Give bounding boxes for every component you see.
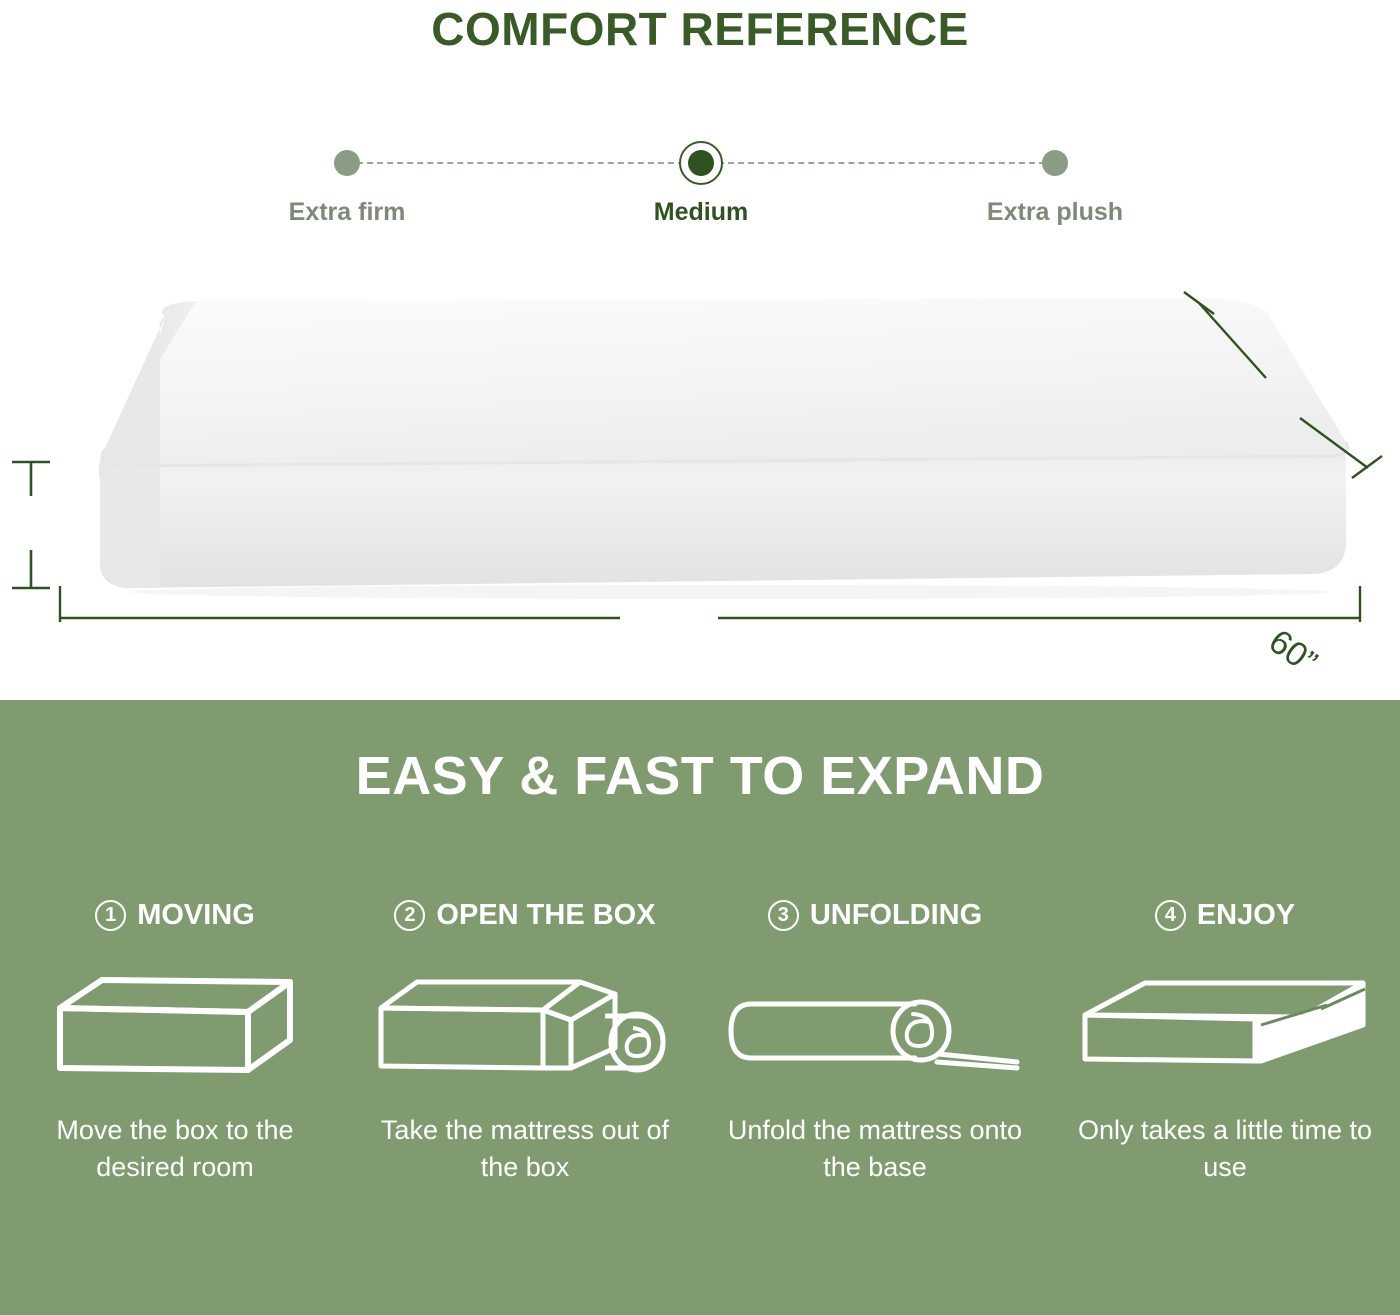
step-caption-2: Take the mattress out of the box	[365, 1112, 685, 1187]
unrolling-mattress-icon	[725, 965, 1025, 1090]
mattress-illustration: 12” 80” 60”	[0, 270, 1400, 650]
step-heading-4: 4 ENJOY	[1155, 895, 1295, 935]
comfort-reference-section: COMFORT REFERENCE Extra firm Medium Extr…	[0, 0, 1400, 700]
mattress-left-corner	[99, 317, 165, 588]
step-heading-label: UNFOLDING	[810, 899, 982, 932]
step-item-moving: 1 MOVING Move the box to the desired roo…	[0, 895, 350, 1187]
mattress-top-face	[102, 298, 1347, 466]
comfort-dot-medium-selected	[621, 140, 781, 186]
comfort-label-medium: Medium	[621, 198, 781, 227]
step-number-badge: 2	[394, 900, 425, 931]
page-title: COMFORT REFERENCE	[0, 2, 1400, 56]
step-item-enjoy: 4 ENJOY Only takes a little time to use	[1050, 895, 1400, 1187]
comfort-label-extra-plush: Extra plush	[975, 198, 1135, 227]
easy-expand-section: EASY & FAST TO EXPAND 1 MOVING Move the …	[0, 700, 1400, 1315]
step-heading-2: 2 OPEN THE BOX	[394, 895, 655, 935]
step-heading-1: 1 MOVING	[95, 895, 255, 935]
mattress-svg	[0, 270, 1400, 650]
step-heading-label: MOVING	[137, 899, 255, 932]
step-heading-label: ENJOY	[1197, 899, 1295, 932]
step-caption-3: Unfold the mattress onto the base	[715, 1112, 1035, 1187]
comfort-scale-node-extra-firm[interactable]: Extra firm	[267, 140, 427, 227]
step-item-open-the-box: 2 OPEN THE BOX Take the mattress out of …	[350, 895, 700, 1187]
step-number-badge: 1	[95, 900, 126, 931]
comfort-scale-node-extra-plush[interactable]: Extra plush	[975, 140, 1135, 227]
step-number-badge: 3	[768, 900, 799, 931]
comfort-label-extra-firm: Extra firm	[267, 198, 427, 227]
comfort-dot-extra-plush	[975, 140, 1135, 186]
flat-mattress-icon	[1075, 965, 1375, 1090]
mattress-shadow	[130, 585, 1330, 599]
step-heading-label: OPEN THE BOX	[436, 899, 655, 932]
step-caption-1: Move the box to the desired room	[15, 1112, 335, 1187]
section-title: EASY & FAST TO EXPAND	[0, 745, 1400, 807]
steps-row: 1 MOVING Move the box to the desired roo…	[0, 895, 1400, 1187]
comfort-dot-extra-firm	[267, 140, 427, 186]
step-heading-3: 3 UNFOLDING	[768, 895, 982, 935]
step-number-badge: 4	[1155, 900, 1186, 931]
comfort-scale-node-medium[interactable]: Medium	[621, 140, 781, 227]
step-caption-4: Only takes a little time to use	[1065, 1112, 1385, 1187]
comfort-scale: Extra firm Medium Extra plush	[255, 140, 1145, 250]
open-box-with-roll-icon	[375, 965, 675, 1090]
dimension-line-height	[12, 462, 50, 588]
closed-box-icon	[50, 965, 300, 1090]
step-item-unfolding: 3 UNFOLDING Unfold the mattress onto the…	[700, 895, 1050, 1187]
